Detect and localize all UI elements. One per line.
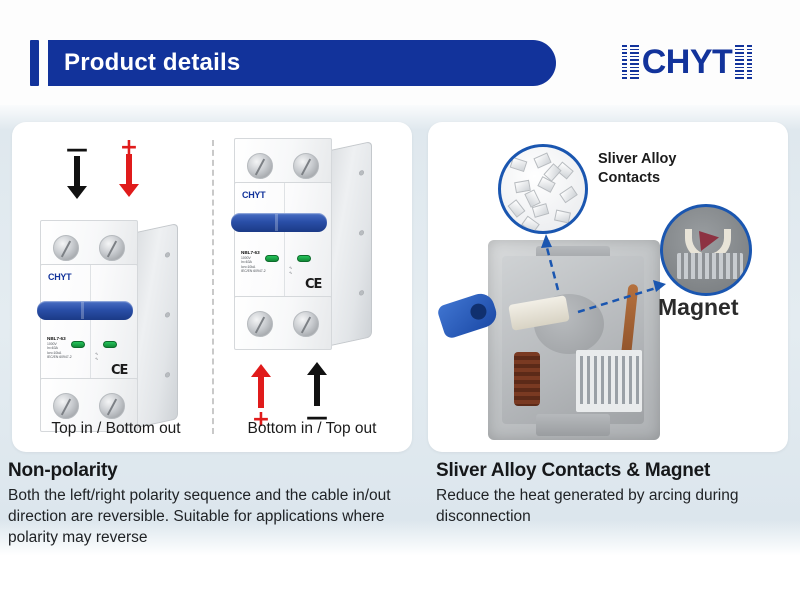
striped-bars-icon xyxy=(747,45,752,79)
status-led-icon xyxy=(71,341,85,348)
page-header: Product details CHYT xyxy=(0,0,800,105)
ce-mark-icon: CE xyxy=(305,277,321,292)
scene-bottom-in-top-out: CHYT NBL7-63 1000V In=63A Icn=10kA IEC/E… xyxy=(216,122,408,452)
trip-curve-symbol: ∿∿ xyxy=(95,351,98,361)
feature-description: Both the left/right polarity sequence an… xyxy=(8,485,428,548)
polarity-marker-positive: + xyxy=(244,364,278,426)
breaker-brand-label: CHYT xyxy=(242,190,265,200)
breaker-spec-label: NBL7-63 1000V In=63A Icn=10kA IEC/EN 609… xyxy=(47,337,72,360)
status-led-icon xyxy=(297,255,311,262)
page-title: Product details xyxy=(64,40,240,86)
scene-caption: Top in / Bottom out xyxy=(18,420,214,438)
breaker-front-face: CHYT NBL7-63 1000V In=63A Icn=10kA IEC/E… xyxy=(234,182,332,308)
breaker-side-profile xyxy=(132,223,178,429)
feature-description: Reduce the heat generated by arcing duri… xyxy=(436,485,796,527)
polarity-marker-positive: + xyxy=(112,142,146,198)
header-accent-bar xyxy=(30,40,39,86)
breaker-toggle-lever xyxy=(37,301,133,320)
striped-bars-icon xyxy=(630,45,639,79)
arrow-up-icon xyxy=(300,362,334,406)
silver-alloy-contacts-closeup xyxy=(498,144,588,234)
terminal-screw-icon xyxy=(53,393,79,419)
status-led-icon xyxy=(265,255,279,262)
trip-curve-symbol: ∿∿ xyxy=(289,265,292,275)
striped-bars-icon xyxy=(735,45,744,79)
terminal-screw-icon xyxy=(293,311,319,337)
brand-logo: CHYT xyxy=(597,36,777,88)
arrow-down-icon xyxy=(60,156,94,200)
terminal-screw-icon xyxy=(53,235,79,261)
terminal-screw-icon xyxy=(247,311,273,337)
arrow-up-icon xyxy=(244,364,278,408)
logo-wordmark: CHYT xyxy=(642,45,733,79)
breaker-brand-label: CHYT xyxy=(48,272,71,282)
magnet-pins xyxy=(677,253,743,279)
striped-bars-icon xyxy=(622,45,627,79)
ce-mark-icon: CE xyxy=(111,363,127,378)
scene-top-in-bottom-out: — + CHYT xyxy=(18,122,214,452)
terminal-screw-icon xyxy=(293,153,319,179)
scene-caption: Bottom in / Top out xyxy=(216,420,408,438)
feature-title: Sliver Alloy Contacts & Magnet xyxy=(436,460,796,482)
feature-block-contacts-magnet: Sliver Alloy Contacts & Magnet Reduce th… xyxy=(436,460,796,527)
breaker-spec-label: NBL7-63 1000V In=63A Icn=10kA IEC/EN 609… xyxy=(241,251,266,274)
breaker-terminal-block-bottom xyxy=(234,296,332,350)
breaker-side-profile xyxy=(326,141,372,347)
status-led-icon xyxy=(103,341,117,348)
feature-block-non-polarity: Non-polarity Both the left/right polarit… xyxy=(8,460,428,548)
contacts-magnet-image-card: Sliver Alloy Contacts Magnet xyxy=(428,122,788,452)
arrow-down-icon xyxy=(112,154,146,198)
terminal-screw-icon xyxy=(247,153,273,179)
feature-title: Non-polarity xyxy=(8,460,428,482)
terminal-screw-icon xyxy=(99,393,125,419)
breaker-toggle-lever xyxy=(231,213,327,232)
magnet-closeup xyxy=(660,204,752,296)
callout-label-magnet: Magnet xyxy=(658,294,739,321)
terminal-screw-icon xyxy=(99,235,125,261)
callout-label-contacts: Sliver Alloy Contacts xyxy=(598,150,758,188)
polarity-marker-negative: — xyxy=(60,144,94,200)
polarity-marker-negative: — xyxy=(300,362,334,424)
non-polarity-image-card: — + CHYT xyxy=(12,122,412,452)
breaker-front-face: CHYT NBL7-63 1000V In=63A Icn=10kA IEC/E… xyxy=(40,264,138,390)
